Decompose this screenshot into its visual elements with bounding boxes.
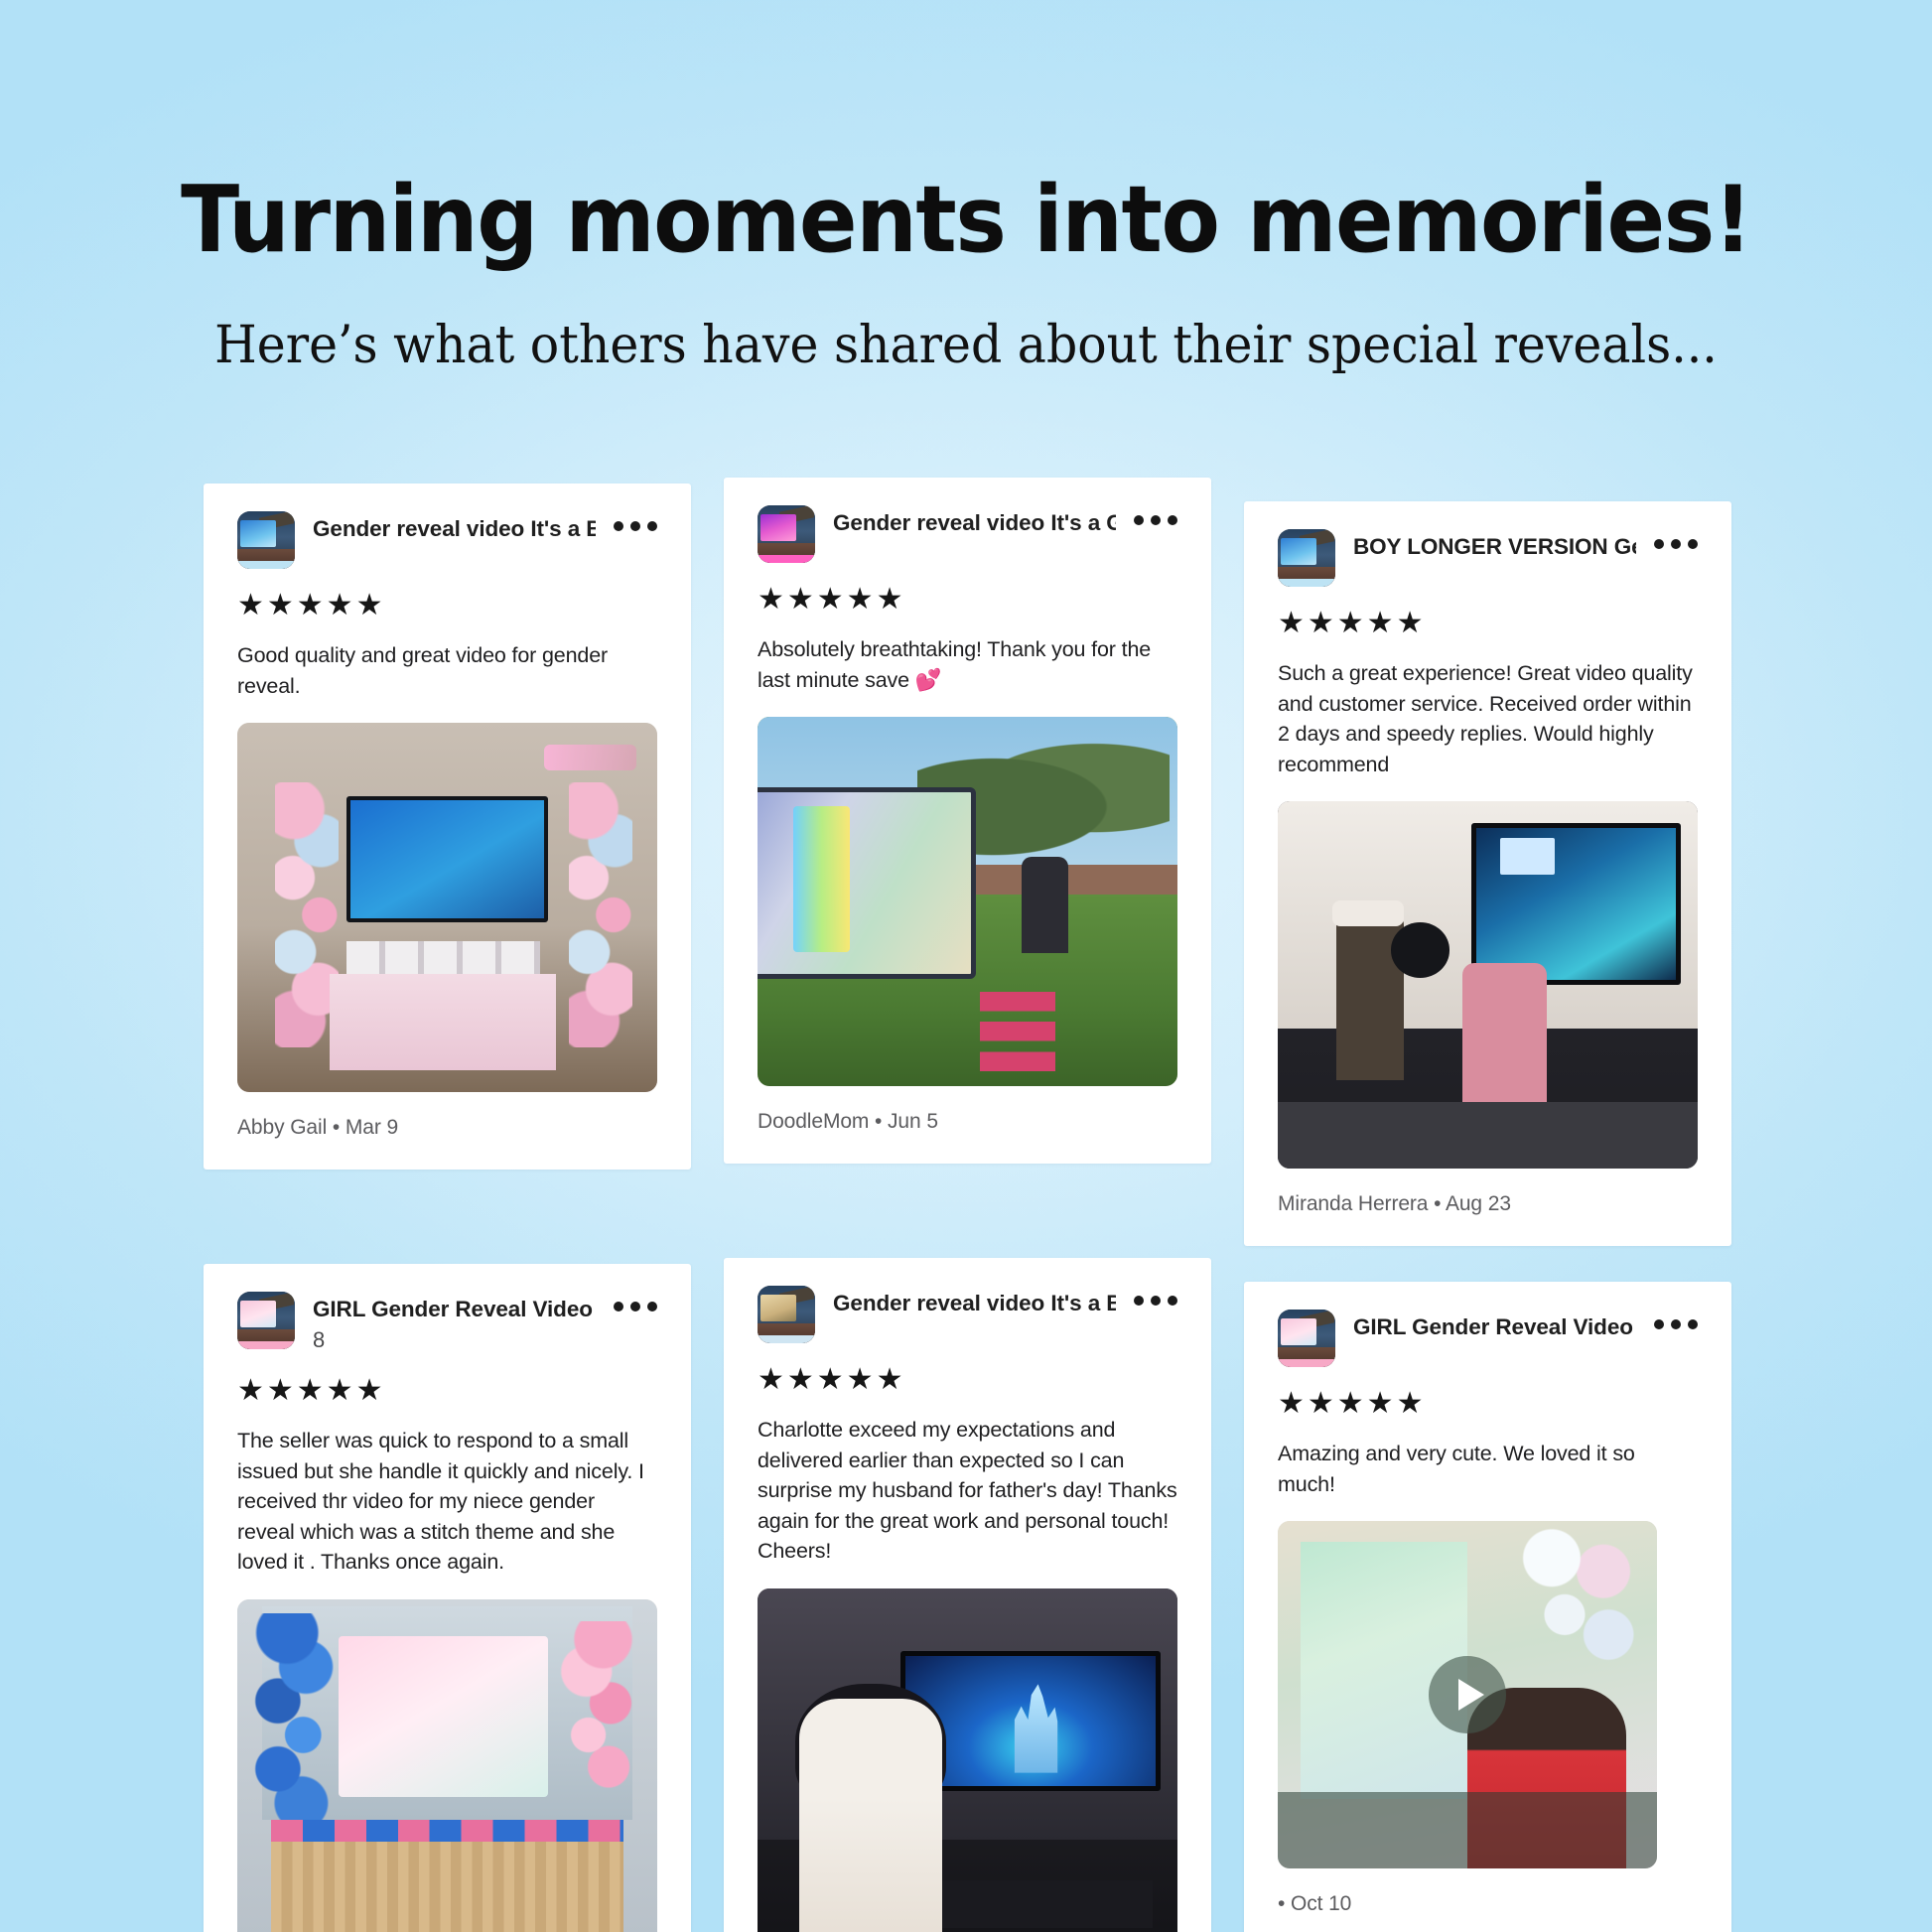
listing-title[interactable]: BOY LONGER VERSION Gender ... — [1353, 533, 1636, 561]
review-text: Good quality and great video for gender … — [237, 640, 657, 701]
review-footer: Abby Gail • Mar 9 — [237, 1116, 657, 1140]
review-card-header: Gender reveal video It's a Girl! Vide... — [758, 505, 1177, 565]
play-icon[interactable] — [1429, 1656, 1506, 1733]
more-options-icon[interactable] — [1654, 1310, 1698, 1329]
more-options-icon[interactable] — [614, 511, 657, 531]
page-title: Turning moments into memories! — [68, 174, 1864, 266]
review-grid: Gender reveal video It's a Boy! Vide... … — [204, 483, 1732, 1932]
review-video-thumbnail[interactable] — [1278, 1521, 1657, 1868]
listing-title[interactable]: GIRL Gender Reveal Video digital ... — [313, 1296, 596, 1323]
review-text: Amazing and very cute. We loved it so mu… — [1278, 1439, 1698, 1499]
star-rating: ★★★★★ — [237, 591, 657, 622]
more-options-icon[interactable] — [1134, 1286, 1177, 1306]
more-options-icon[interactable] — [1134, 505, 1177, 525]
review-text: Charlotte exceed my expectations and del… — [758, 1415, 1177, 1567]
review-text: The seller was quick to respond to a sma… — [237, 1426, 657, 1578]
page-subtitle: Here’s what others have shared about the… — [58, 318, 1873, 374]
review-text: Such a great experience! Great video qua… — [1278, 658, 1698, 779]
listing-thumbnail-icon[interactable] — [237, 1292, 295, 1349]
heart-icon: 💕 — [915, 668, 942, 692]
listing-thumbnail-icon[interactable] — [1278, 1310, 1335, 1367]
review-footer: Miranda Herrera • Aug 23 — [1278, 1192, 1698, 1216]
review-footer: DoodleMom • Jun 5 — [758, 1110, 1177, 1134]
listing-thumbnail-icon[interactable] — [1278, 529, 1335, 587]
review-card-header: BOY LONGER VERSION Gender ... — [1278, 529, 1698, 589]
review-card-6[interactable]: GIRL Gender Reveal Video digital ... ★★★… — [1244, 1282, 1731, 1932]
star-rating: ★★★★★ — [1278, 609, 1698, 640]
review-card-header: Gender reveal video It's a Boy! Vide... — [758, 1286, 1177, 1345]
page-header: Turning moments into memories! Here’s wh… — [0, 0, 1932, 374]
review-card-5[interactable]: Gender reveal video It's a Boy! Vide... … — [724, 1258, 1211, 1932]
listing-title[interactable]: Gender reveal video It's a Boy! Vide... — [313, 515, 596, 543]
listing-thumbnail-icon[interactable] — [758, 1286, 815, 1343]
listing-subtitle: 8 — [313, 1325, 596, 1356]
star-rating: ★★★★★ — [237, 1376, 657, 1408]
star-rating: ★★★★★ — [758, 1365, 1177, 1397]
review-card-1[interactable]: Gender reveal video It's a Boy! Vide... … — [204, 483, 691, 1170]
more-options-icon[interactable] — [614, 1292, 657, 1311]
review-card-header: GIRL Gender Reveal Video digital ... 8 — [237, 1292, 657, 1356]
review-text-body: Absolutely breathtaking! Thank you for t… — [758, 637, 1151, 692]
review-card-3[interactable]: BOY LONGER VERSION Gender ... ★★★★★ Such… — [1244, 501, 1731, 1246]
listing-title[interactable]: GIRL Gender Reveal Video digital ... — [1353, 1313, 1636, 1341]
review-text: Absolutely breathtaking! Thank you for t… — [758, 634, 1177, 695]
review-footer: • Oct 10 — [1278, 1892, 1698, 1916]
review-photo[interactable] — [237, 723, 657, 1092]
review-photo[interactable] — [758, 717, 1177, 1086]
more-options-icon[interactable] — [1654, 529, 1698, 549]
star-rating: ★★★★★ — [1278, 1389, 1698, 1421]
listing-thumbnail-icon[interactable] — [237, 511, 295, 569]
review-card-2[interactable]: Gender reveal video It's a Girl! Vide...… — [724, 478, 1211, 1164]
review-photo[interactable] — [1278, 801, 1698, 1169]
listing-title[interactable]: Gender reveal video It's a Boy! Vide... — [833, 1290, 1116, 1317]
review-card-header: Gender reveal video It's a Boy! Vide... — [237, 511, 657, 571]
listing-thumbnail-icon[interactable] — [758, 505, 815, 563]
star-rating: ★★★★★ — [758, 585, 1177, 617]
review-card-4[interactable]: GIRL Gender Reveal Video digital ... 8 ★… — [204, 1264, 691, 1932]
review-card-header: GIRL Gender Reveal Video digital ... — [1278, 1310, 1698, 1369]
listing-title[interactable]: Gender reveal video It's a Girl! Vide... — [833, 509, 1116, 537]
review-photo[interactable] — [758, 1588, 1177, 1932]
review-photo[interactable] — [237, 1599, 657, 1932]
